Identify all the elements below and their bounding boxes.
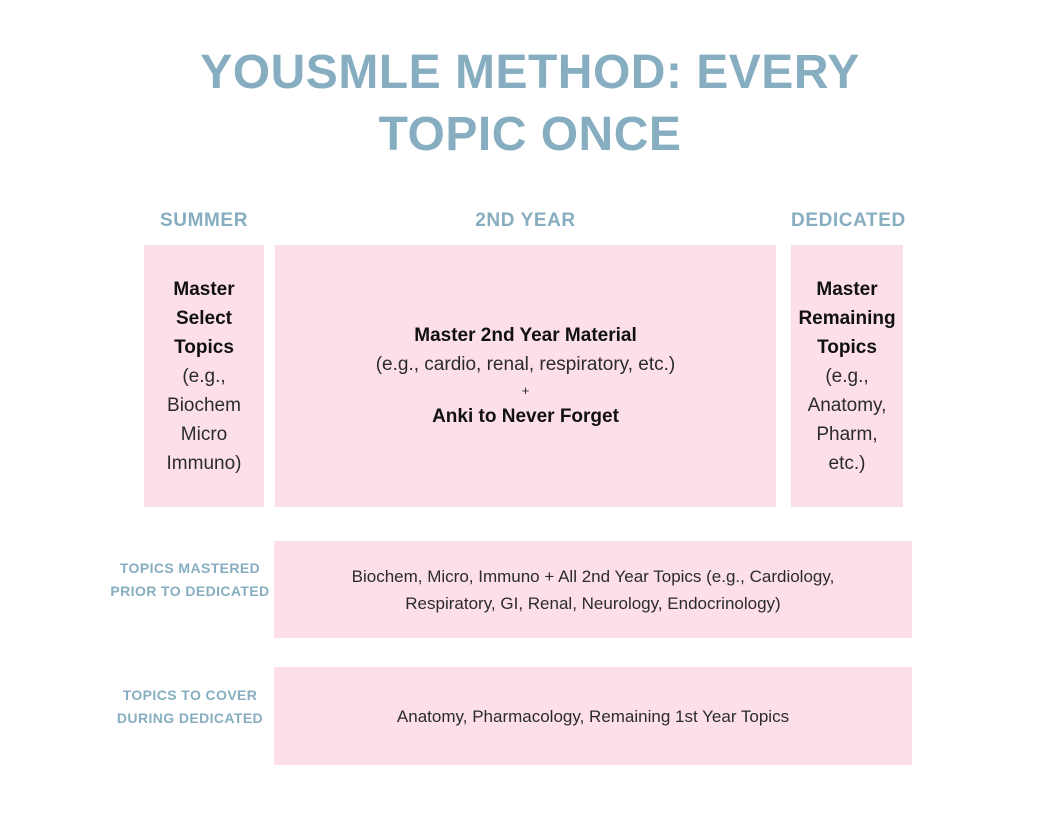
panel-2nd-year: Master 2nd Year Material (e.g., cardio, …	[275, 245, 776, 507]
panel-2nd-year-subtitle: (e.g., cardio, renal, respiratory, etc.)	[376, 350, 676, 379]
panel-2nd-year-emphasis: Anki to Never Forget	[432, 403, 619, 431]
panel-2nd-year-connector: +	[522, 379, 530, 403]
panel-summer: Master Select Topics (e.g., Biochem Micr…	[144, 245, 264, 507]
panel-dedicated-title: Master Remaining Topics	[798, 275, 895, 362]
summary-box-topics-to-cover: Anatomy, Pharmacology, Remaining 1st Yea…	[274, 667, 912, 765]
panel-dedicated: Master Remaining Topics (e.g., Anatomy, …	[791, 245, 903, 507]
summary-label-topics-to-cover: TOPICS TO COVER DURING DEDICATED	[100, 684, 280, 730]
summary-text-topics-mastered: Biochem, Micro, Immuno + All 2nd Year To…	[313, 563, 873, 617]
panel-summer-subtitle: (e.g., Biochem Micro Immuno)	[152, 362, 256, 478]
summary-box-topics-mastered: Biochem, Micro, Immuno + All 2nd Year To…	[274, 541, 912, 638]
summary-label-topics-mastered: TOPICS MASTERED PRIOR TO DEDICATED	[100, 557, 280, 603]
panel-summer-title: Master Select Topics	[152, 275, 256, 362]
summary-text-topics-to-cover: Anatomy, Pharmacology, Remaining 1st Yea…	[397, 703, 789, 730]
panel-2nd-year-title: Master 2nd Year Material	[414, 321, 636, 350]
panel-dedicated-subtitle: (e.g., Anatomy, Pharm, etc.)	[799, 362, 895, 478]
